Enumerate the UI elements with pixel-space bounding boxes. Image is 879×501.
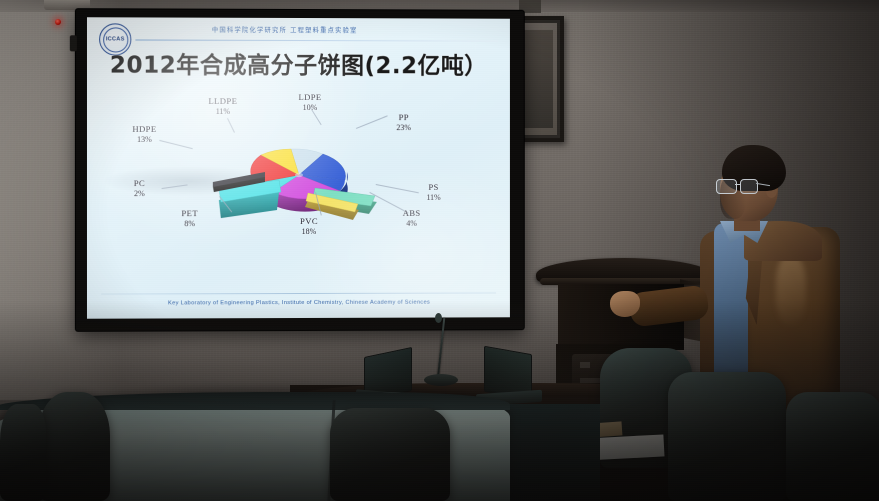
pie-label-ps-name: PS: [410, 182, 458, 193]
pie-label-pvc-name: PVC: [284, 216, 334, 227]
pie-label-pp: PP 23%: [376, 112, 432, 133]
room-ambient-shadow: [0, 300, 879, 501]
pie-label-abs-name: ABS: [388, 208, 436, 219]
slide-header: ICCAS 中国科学院化学研究所 工程塑料重点实验室: [99, 22, 502, 42]
pie-label-pet: PET 8%: [166, 208, 214, 229]
pie-label-ps: PS 11%: [410, 182, 458, 203]
glasses-lens-right: [740, 179, 758, 194]
pie-label-pc-name: PC: [117, 178, 161, 189]
pie-label-pc-value: 2%: [117, 189, 161, 199]
red-led-indicator-icon: [55, 19, 61, 25]
glasses-bridge: [735, 184, 741, 185]
pie-label-hdpe-value: 13%: [115, 135, 173, 145]
pie-label-ldpe: LDPE 10%: [278, 92, 342, 113]
pie-label-pp-value: 23%: [376, 123, 432, 133]
pie-label-pp-name: PP: [376, 112, 432, 123]
pie-label-ps-value: 11%: [410, 193, 458, 203]
presentation-slide: ICCAS 中国科学院化学研究所 工程塑料重点实验室 2012年合成高分子饼图(…: [87, 17, 510, 318]
pie-label-ldpe-value: 10%: [278, 103, 342, 113]
glasses-lens-left: [716, 179, 737, 194]
slide-footer-rule: [101, 292, 496, 294]
pie-label-pet-name: PET: [166, 208, 214, 219]
pie-label-abs-value: 4%: [388, 219, 436, 229]
pie-label-hdpe: HDPE 13%: [115, 124, 173, 145]
projection-screen-surface: ICCAS 中国科学院化学研究所 工程塑料重点实验室 2012年合成高分子饼图(…: [87, 17, 510, 318]
pie-label-pet-value: 8%: [166, 219, 214, 229]
pie-label-pc: PC 2%: [117, 178, 161, 199]
presentation-room-photo: ICCAS 中国科学院化学研究所 工程塑料重点实验室 2012年合成高分子饼图(…: [0, 0, 879, 501]
pie-chart: LLDPE 11% LDPE 10% PP 23% HDP: [87, 80, 510, 286]
pie-label-lldpe-name: LLDPE: [188, 96, 258, 107]
slide-header-rule: [135, 39, 498, 41]
glasses-icon: [716, 179, 766, 192]
pie-label-pvc-value: 18%: [284, 227, 334, 237]
pie-label-abs: ABS 4%: [388, 208, 436, 229]
pie-label-ldpe-name: LDPE: [278, 92, 342, 103]
slide-header-chinese-text: 中国科学院化学研究所 工程塑料重点实验室: [212, 25, 358, 34]
pie-label-lldpe: LLDPE 11%: [188, 96, 258, 117]
projection-screen-frame: ICCAS 中国科学院化学研究所 工程塑料重点实验室 2012年合成高分子饼图(…: [76, 9, 524, 331]
pie-label-lldpe-value: 11%: [188, 107, 258, 117]
pie-label-hdpe-name: HDPE: [115, 124, 173, 135]
slide-title: 2012年合成高分子饼图(2.2亿吨）: [87, 45, 510, 80]
pie-label-pvc: PVC 18%: [284, 216, 334, 237]
